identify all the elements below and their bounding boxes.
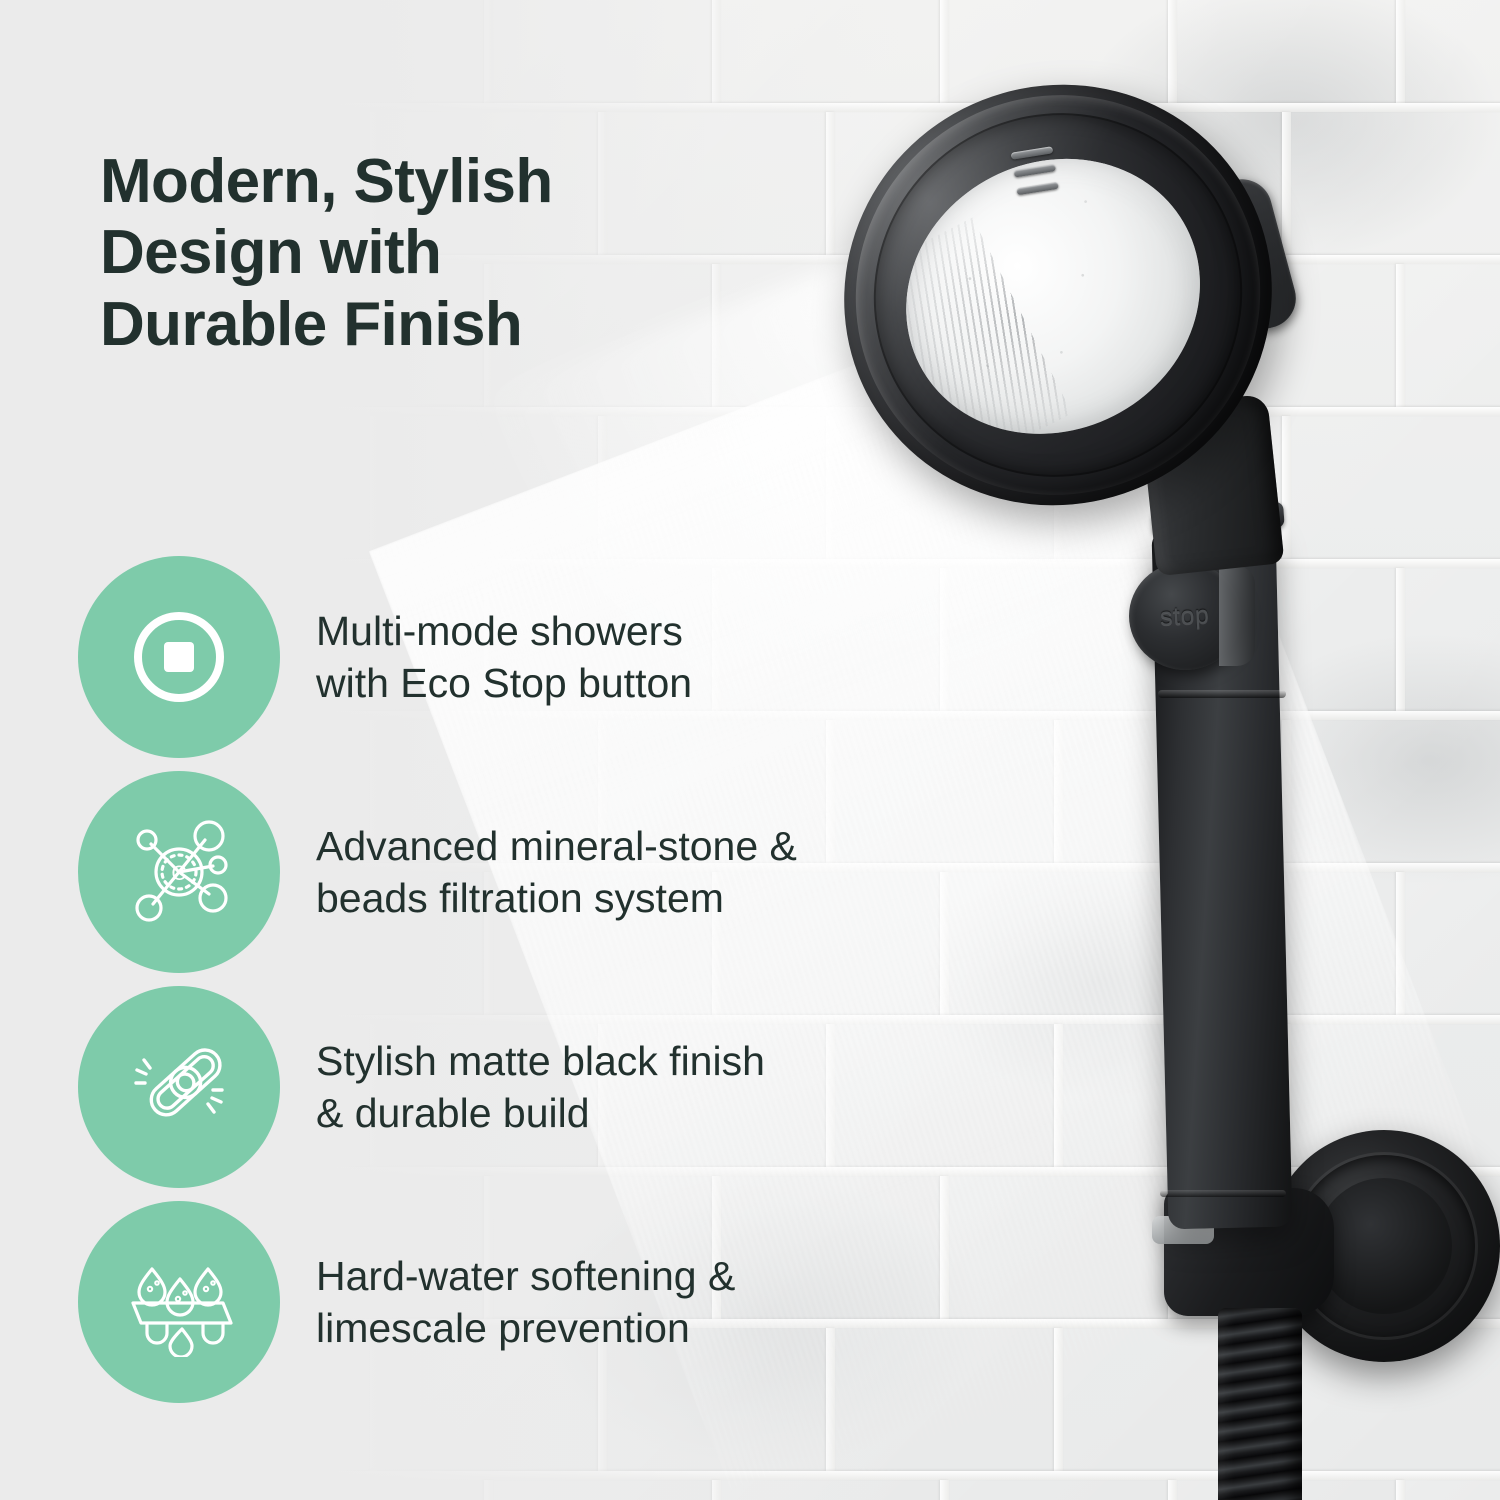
feature-line-2: beads filtration system [316,872,797,924]
feature-line-2: with Eco Stop button [316,657,692,709]
feature-text: Advanced mineral-stone & beads filtratio… [316,820,797,925]
feature-icon-badge: C [78,771,280,973]
feature-line-1: Hard-water softening & [316,1250,735,1302]
vent-slot [1016,182,1059,195]
flexible-hose [1218,1308,1302,1500]
feature-text: Multi-mode showers with Eco Stop button [316,605,692,710]
feature-icon-badge [78,556,280,758]
mineral-molecule-icon: C [121,814,237,930]
feature-item-filtration: C Advanced mineral-stone & beads filtrat… [78,772,1078,972]
stop-button-icon [123,601,235,713]
feature-text: Stylish matte black finish & durable bui… [316,1035,765,1140]
feature-icon-badge [78,986,280,1188]
water-filter-droplets-icon [119,1247,239,1357]
page-title: Modern, Stylish Design with Durable Fini… [100,146,760,362]
vent-slot [1013,164,1056,177]
feature-item-multi-mode: Multi-mode showers with Eco Stop button [78,557,1078,757]
feature-list: Multi-mode showers with Eco Stop button … [78,557,1078,1417]
stop-button-label: stop [1160,600,1211,632]
feature-item-hard-water: Hard-water softening & limescale prevent… [78,1202,1078,1402]
feature-line-1: Advanced mineral-stone & [316,820,797,872]
feature-icon-badge [78,1201,280,1403]
headline-line-3: Durable Finish [100,289,760,361]
headline-line-2: Design with [100,217,760,289]
product-feature-graphic: stop ↓ ∷ ⁂ Modern, Stylish Design [0,0,1500,1500]
chain-link-icon [120,1028,238,1146]
feature-line-1: Stylish matte black finish [316,1035,765,1087]
feature-text: Hard-water softening & limescale prevent… [316,1250,735,1355]
handle-seam-upper [1158,690,1286,698]
feature-item-finish: Stylish matte black finish & durable bui… [78,987,1078,1187]
stop-button-rim [1219,566,1255,666]
head-vent-slots [1011,146,1061,206]
headline-line-1: Modern, Stylish [100,146,760,218]
flange-ring-inner [1316,1178,1452,1314]
svg-text:C: C [171,862,186,885]
handle-seam-lower [1160,1190,1286,1197]
feature-line-2: & durable build [316,1087,765,1139]
feature-line-1: Multi-mode showers [316,605,692,657]
feature-line-2: limescale prevention [316,1302,735,1354]
